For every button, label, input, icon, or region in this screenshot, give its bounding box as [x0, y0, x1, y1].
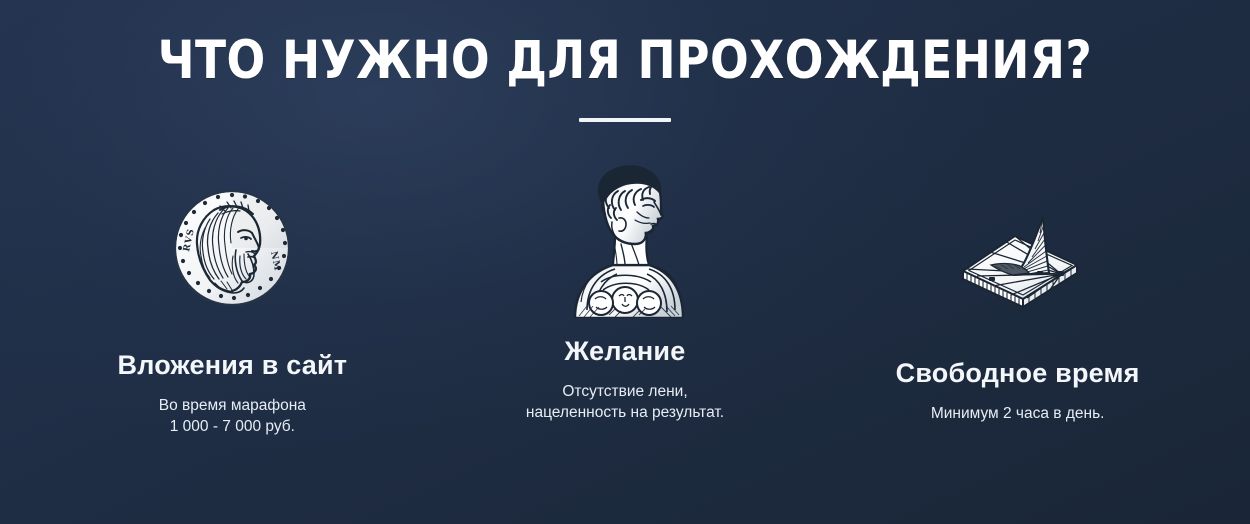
roman-coin-icon: RVS NM	[54, 150, 411, 332]
feature-column-time: Свободное время Минимум 2 часа в день.	[821, 150, 1214, 424]
feature-column-desire: Желание Отсутствие лени, нацеленность на…	[429, 150, 822, 423]
description-line-2: 1 000 - 7 000 руб.	[54, 416, 411, 437]
roman-bust-icon	[447, 150, 804, 318]
title-divider	[579, 118, 671, 122]
title-block: ЧТО НУЖНО ДЛЯ ПРОХОЖДЕНИЯ?	[0, 0, 1250, 122]
description-line-1: Отсутствие лени,	[447, 381, 804, 402]
description-line-2: нацеленность на результат.	[447, 402, 804, 423]
feature-columns: RVS NM Вложения в сайт Во время марафона…	[0, 150, 1250, 437]
column-description: Во время марафона 1 000 - 7 000 руб.	[54, 395, 411, 437]
page-title: ЧТО НУЖНО ДЛЯ ПРОХОЖДЕНИЯ?	[88, 32, 1163, 90]
description-line-1: Во время марафона	[54, 395, 411, 416]
column-heading: Вложения в сайт	[54, 350, 411, 381]
page-root: ЧТО НУЖНО ДЛЯ ПРОХОЖДЕНИЯ?	[0, 0, 1250, 524]
column-heading: Свободное время	[839, 358, 1196, 389]
feature-column-investment: RVS NM Вложения в сайт Во время марафона…	[36, 150, 429, 437]
column-description: Отсутствие лени, нацеленность на результ…	[447, 381, 804, 423]
column-description: Минимум 2 часа в день.	[839, 403, 1196, 424]
column-heading: Желание	[447, 336, 804, 367]
description-line-1: Минимум 2 часа в день.	[839, 403, 1196, 424]
sundial-icon	[839, 150, 1196, 340]
